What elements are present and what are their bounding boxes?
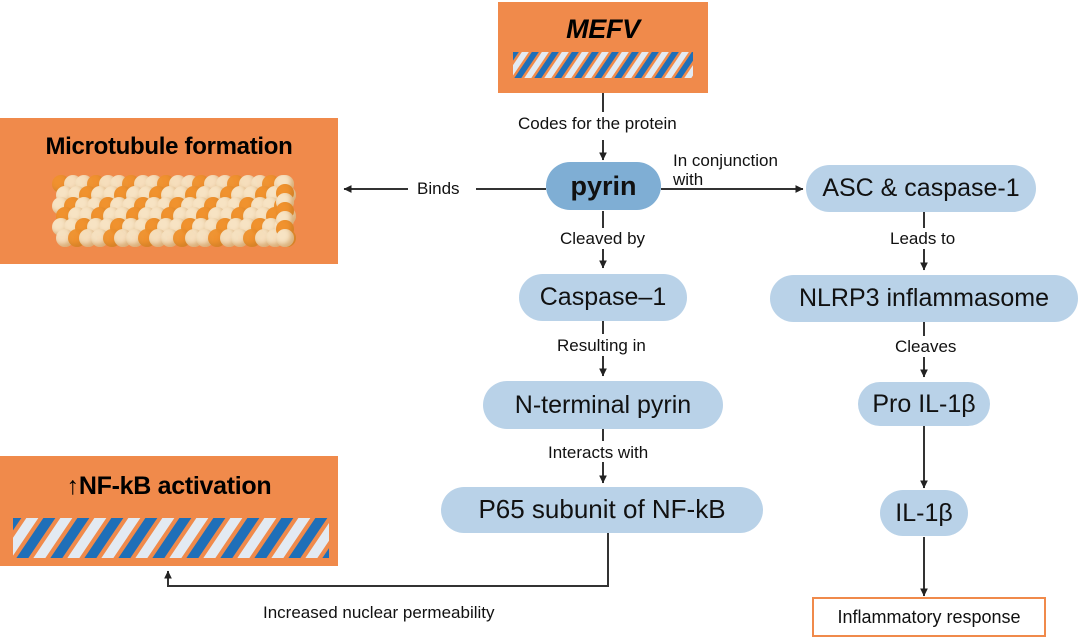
node-pyrin[interactable]: pyrin	[546, 162, 661, 210]
node-asc-caspase-1[interactable]: ASC & caspase-1	[806, 165, 1036, 212]
microtubule-label: Microtubule formation	[0, 133, 338, 161]
dna-helix-icon	[513, 52, 693, 78]
pathway-diagram: MEFV Microtubule formation ↑NF-kB activa…	[0, 0, 1080, 639]
edge-label-binds: Binds	[417, 179, 460, 198]
edge-label-codes-for-protein: Codes for the protein	[518, 114, 677, 133]
edge-label-interacts-with: Interacts with	[548, 443, 648, 462]
edge-label-increased-nuclear-permeability: Increased nuclear permeability	[263, 603, 495, 622]
dna-helix-icon	[13, 518, 329, 558]
microtubule-icon	[52, 175, 292, 247]
mefv-label: MEFV	[498, 14, 708, 45]
mefv-panel: MEFV	[498, 2, 708, 93]
node-n-terminal-pyrin[interactable]: N-terminal pyrin	[483, 381, 723, 429]
node-p65-subunit[interactable]: P65 subunit of NF-kB	[441, 487, 763, 533]
node-il-1b[interactable]: IL-1β	[880, 490, 968, 536]
edge-label-in-conjunction-with: In conjunction with	[673, 151, 778, 189]
nfkb-label: ↑NF-kB activation	[0, 472, 338, 501]
nfkb-panel: ↑NF-kB activation	[0, 456, 338, 566]
microtubule-panel: Microtubule formation	[0, 118, 338, 264]
node-caspase-1[interactable]: Caspase–1	[519, 274, 687, 321]
edge-label-cleaves: Cleaves	[895, 337, 956, 356]
node-pro-il-1b[interactable]: Pro IL-1β	[858, 382, 990, 426]
node-inflammatory-response[interactable]: Inflammatory response	[812, 597, 1046, 637]
edge-label-cleaved-by: Cleaved by	[560, 229, 645, 248]
node-nlrp3-inflammasome[interactable]: NLRP3 inflammasome	[770, 275, 1078, 322]
edge-label-leads-to: Leads to	[890, 229, 955, 248]
edge-label-resulting-in: Resulting in	[557, 336, 646, 355]
